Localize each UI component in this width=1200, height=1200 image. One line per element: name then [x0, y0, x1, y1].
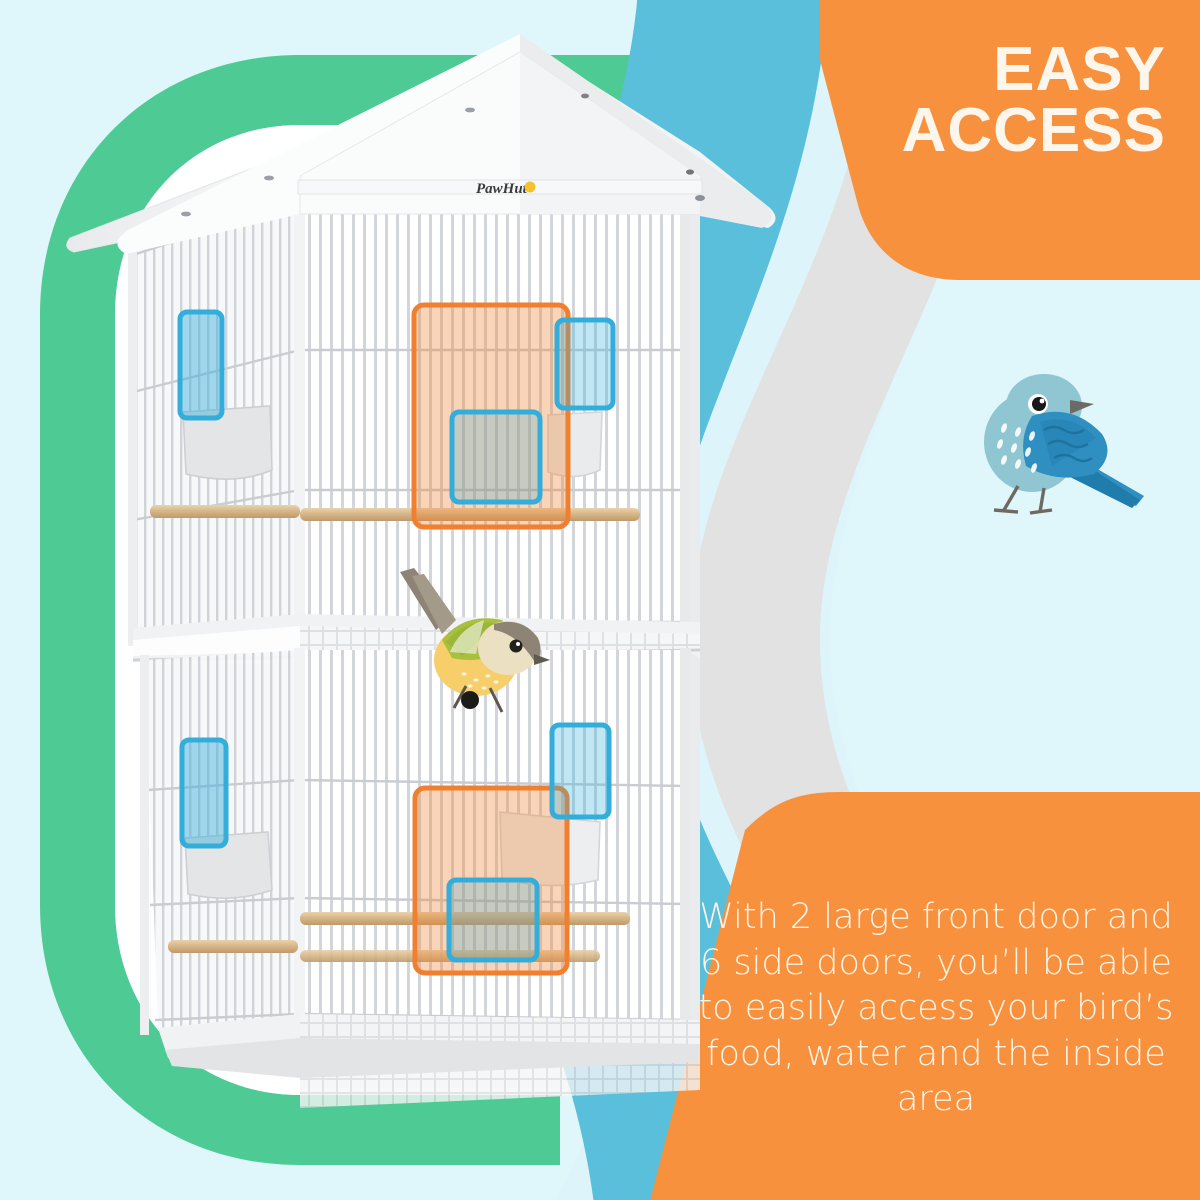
brand-logo: PawHut: [476, 181, 536, 197]
side-door-highlight-upper-inner[interactable]: [452, 412, 540, 502]
brand-logo-accent-icon: [525, 182, 536, 193]
marketing-image: PawHut: [0, 0, 1200, 1200]
cage-base-tray: [158, 1014, 700, 1108]
brand-logo-text: PawHut: [476, 181, 528, 197]
product-photo-birdcage: PawHut: [0, 0, 1200, 1200]
decorative-blue-bird: [960, 360, 1160, 540]
side-door-highlight-upper-left[interactable]: [180, 312, 222, 418]
side-door-highlight-lower-inner[interactable]: [449, 880, 537, 960]
side-door-highlight-lower-left[interactable]: [182, 740, 226, 846]
side-door-highlight-lower-right[interactable]: [552, 725, 609, 817]
side-door-highlight-upper-right[interactable]: [557, 320, 613, 408]
